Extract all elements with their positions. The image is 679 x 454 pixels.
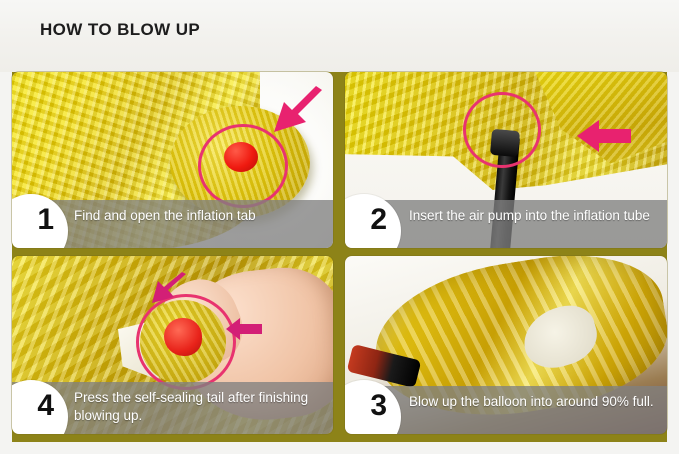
pink-arrow-icon [268,86,326,138]
panel-2-number: 2 [370,203,387,237]
red-seal-sticker [224,142,258,172]
pink-arrow-icon [150,272,188,306]
instruction-panel-grid: Find and open the inflation tab 1 Insert… [12,72,667,442]
panel-4-number: 4 [37,389,54,423]
instruction-panel-2: Insert the air pump into the inflation t… [345,72,667,248]
instruction-panel-4: Press the self-sealing tail after finish… [12,256,333,434]
panel-1-number: 1 [37,203,54,237]
instruction-panel-1: Find and open the inflation tab 1 [12,72,333,248]
panel-3-number: 3 [370,389,387,423]
instruction-panel-3: Blow up the balloon into around 90% full… [345,256,667,434]
pink-arrow-icon-secondary [224,316,264,342]
page-header: HOW TO BLOW UP [0,0,679,72]
highlight-ring-icon [463,92,541,168]
page-title: HOW TO BLOW UP [40,20,200,40]
highlight-ring-icon [136,294,236,390]
pink-arrow-icon [575,116,633,156]
